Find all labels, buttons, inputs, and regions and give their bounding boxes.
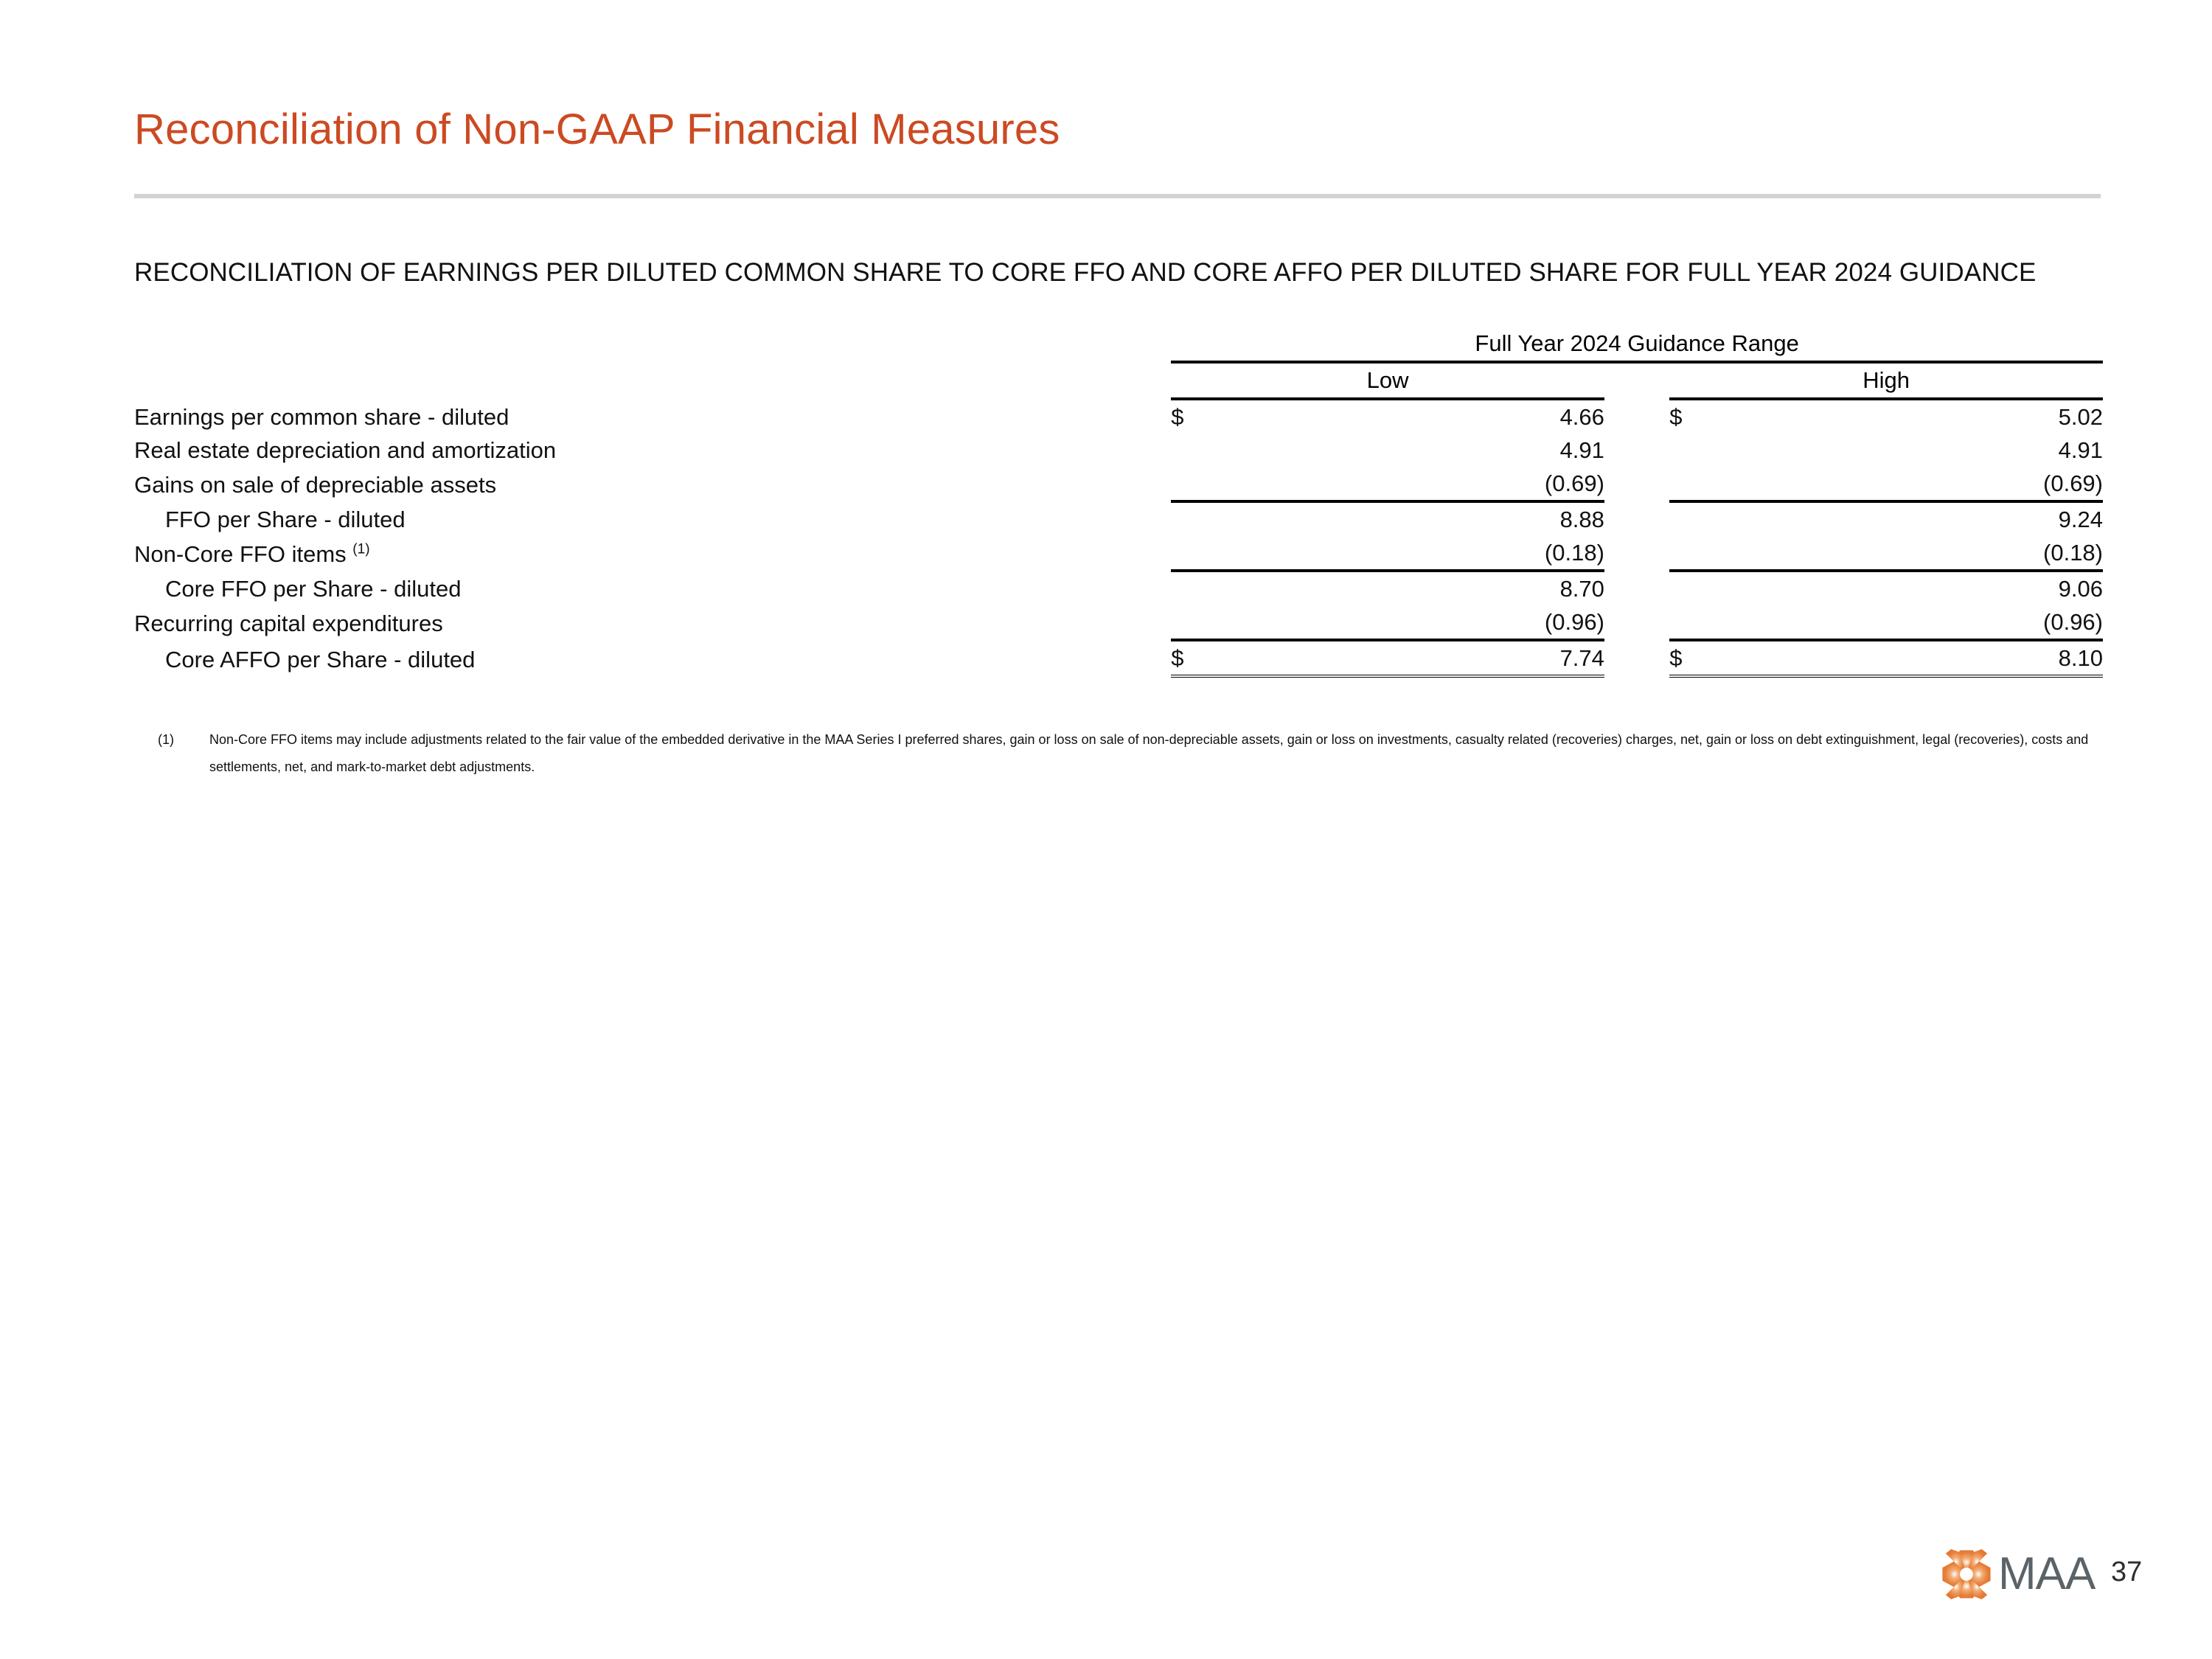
page-number: 37 (2111, 1557, 2142, 1588)
column-gap (1604, 571, 1669, 605)
row-low-currency (1171, 536, 1215, 571)
row-label-text: Non-Core FFO items (134, 541, 347, 567)
row-high-currency (1669, 501, 1714, 536)
footnote: (1) Non-Core FFO items may include adjus… (158, 726, 2090, 781)
footnote-marker: (1) (158, 726, 202, 754)
row-label: Earnings per common share - diluted (134, 399, 1171, 434)
column-gap (1604, 640, 1669, 676)
row-low-currency: $ (1171, 640, 1215, 676)
column-header-low: Low (1171, 362, 1604, 399)
group-header-guidance-range: Full Year 2024 Guidance Range (1171, 327, 2103, 362)
row-low-value: 7.74 (1216, 640, 1604, 676)
row-low-currency (1171, 605, 1215, 640)
row-low-value: 8.88 (1216, 501, 1604, 536)
table-row: FFO per Share - diluted 8.88 9.24 (134, 501, 2103, 536)
row-high-value: 9.24 (1714, 501, 2103, 536)
row-high-value: 9.06 (1714, 571, 2103, 605)
row-high-value: (0.69) (1714, 467, 2103, 501)
row-low-value: 4.91 (1216, 434, 1604, 467)
column-gap (1604, 434, 1669, 467)
empty-cell (134, 362, 1171, 399)
row-high-currency (1669, 467, 1714, 501)
row-high-currency (1669, 605, 1714, 640)
footnote-text: Non-Core FFO items may include adjustmen… (209, 726, 2090, 781)
table-column-header-row: Low High (134, 362, 2103, 399)
row-high-currency (1669, 434, 1714, 467)
page-title: Reconciliation of Non-GAAP Financial Mea… (134, 105, 1060, 154)
table-row: Core AFFO per Share - diluted $ 7.74 $ 8… (134, 640, 2103, 676)
table-row: Core FFO per Share - diluted 8.70 9.06 (134, 571, 2103, 605)
row-high-currency: $ (1669, 640, 1714, 676)
row-label: Core FFO per Share - diluted (134, 571, 1171, 605)
column-gap (1604, 362, 1669, 399)
row-low-value: (0.18) (1216, 536, 1604, 571)
title-divider (134, 194, 2101, 198)
row-label: Non-Core FFO items (1) (134, 536, 1171, 571)
row-label: Core AFFO per Share - diluted (134, 640, 1171, 676)
row-label: Recurring capital expenditures (134, 605, 1171, 640)
reconciliation-table: Full Year 2024 Guidance Range Low High E… (134, 327, 2103, 678)
column-gap (1604, 536, 1669, 571)
row-low-currency (1171, 434, 1215, 467)
table-row: Gains on sale of depreciable assets (0.6… (134, 467, 2103, 501)
row-high-value: 4.91 (1714, 434, 2103, 467)
footnote-reference: (1) (352, 542, 369, 557)
table-row: Recurring capital expenditures (0.96) (0… (134, 605, 2103, 640)
row-low-currency (1171, 467, 1215, 501)
row-high-currency (1669, 571, 1714, 605)
row-label: FFO per Share - diluted (134, 501, 1171, 536)
row-high-value: 5.02 (1714, 399, 2103, 434)
column-gap (1604, 399, 1669, 434)
table-group-header-row: Full Year 2024 Guidance Range (134, 327, 2103, 362)
empty-cell (134, 327, 1171, 362)
row-high-value: (0.96) (1714, 605, 2103, 640)
row-low-currency (1171, 571, 1215, 605)
brand-logo: MAA (1939, 1547, 2095, 1601)
maa-wordmark: MAA (1998, 1547, 2095, 1601)
row-high-currency (1669, 536, 1714, 571)
table-row: Earnings per common share - diluted $ 4.… (134, 399, 2103, 434)
maa-flower-icon (1939, 1547, 1994, 1601)
row-low-currency (1171, 501, 1215, 536)
table: Full Year 2024 Guidance Range Low High E… (134, 327, 2103, 678)
row-low-value: 8.70 (1216, 571, 1604, 605)
row-low-value: (0.69) (1216, 467, 1604, 501)
row-high-value: 8.10 (1714, 640, 2103, 676)
table-row: Non-Core FFO items (1) (0.18) (0.18) (134, 536, 2103, 571)
row-low-value: 4.66 (1216, 399, 1604, 434)
row-low-value: (0.96) (1216, 605, 1604, 640)
row-low-currency: $ (1171, 399, 1215, 434)
table-row: Real estate depreciation and amortizatio… (134, 434, 2103, 467)
row-label: Gains on sale of depreciable assets (134, 467, 1171, 501)
column-gap (1604, 605, 1669, 640)
column-gap (1604, 467, 1669, 501)
row-label: Real estate depreciation and amortizatio… (134, 434, 1171, 467)
column-gap (1604, 501, 1669, 536)
section-heading: RECONCILIATION OF EARNINGS PER DILUTED C… (134, 258, 2036, 288)
column-header-high: High (1669, 362, 2103, 399)
row-high-value: (0.18) (1714, 536, 2103, 571)
row-high-currency: $ (1669, 399, 1714, 434)
